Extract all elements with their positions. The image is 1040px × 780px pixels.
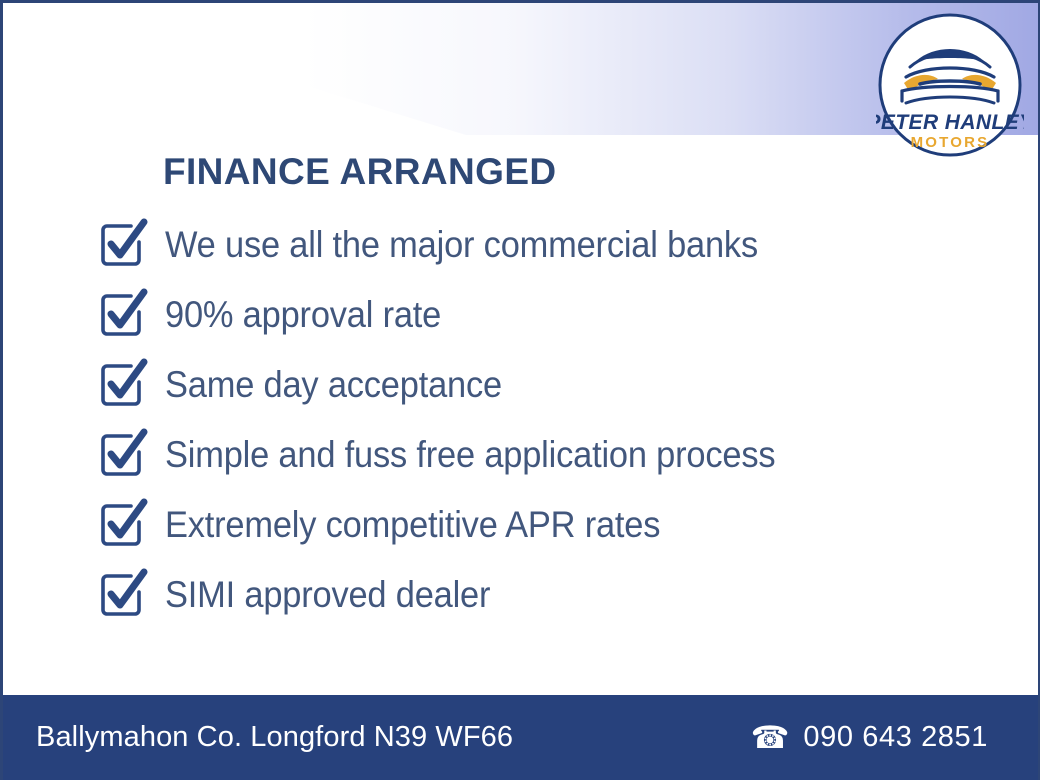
contact-footer-bar: Ballymahon Co. Longford N39 WF66 ☎ 090 6… [0, 695, 1040, 780]
dealer-address: Ballymahon Co. Longford N39 WF66 [36, 721, 513, 754]
list-item-label: Same day acceptance [165, 366, 502, 403]
checkbox-checked-icon [95, 426, 151, 482]
list-item-label: Simple and fuss free application process [165, 436, 775, 473]
list-item-label: 90% approval rate [165, 296, 441, 333]
list-item-label: SIMI approved dealer [165, 576, 490, 613]
finance-poster: PETER HANLEY MOTORS FINANCE ARRANGED We … [0, 0, 1040, 780]
list-item-label: We use all the major commercial banks [165, 226, 758, 263]
telephone-icon: ☎ [751, 722, 790, 753]
checkbox-checked-icon [95, 286, 151, 342]
logo-brand-line2: MOTORS [911, 134, 990, 151]
checkbox-checked-icon [95, 566, 151, 622]
list-item-label: Extremely competitive APR rates [165, 506, 660, 543]
checkbox-checked-icon [95, 356, 151, 412]
list-item: Extremely competitive APR rates [95, 489, 985, 559]
list-item: SIMI approved dealer [95, 559, 985, 629]
feature-list: We use all the major commercial banks 90… [95, 209, 985, 629]
page-title: FINANCE ARRANGED [163, 151, 557, 193]
dealer-phone-number[interactable]: 090 643 2851 [803, 721, 988, 754]
list-item: We use all the major commercial banks [95, 209, 985, 279]
list-item: Same day acceptance [95, 349, 985, 419]
logo-brand-line1: PETER HANLEY [876, 111, 1024, 134]
checkbox-checked-icon [95, 496, 151, 552]
list-item: 90% approval rate [95, 279, 985, 349]
checkbox-checked-icon [95, 216, 151, 272]
dealer-logo: PETER HANLEY MOTORS [876, 11, 1024, 159]
phone-group[interactable]: ☎ 090 643 2851 [751, 721, 1004, 754]
list-item: Simple and fuss free application process [95, 419, 985, 489]
